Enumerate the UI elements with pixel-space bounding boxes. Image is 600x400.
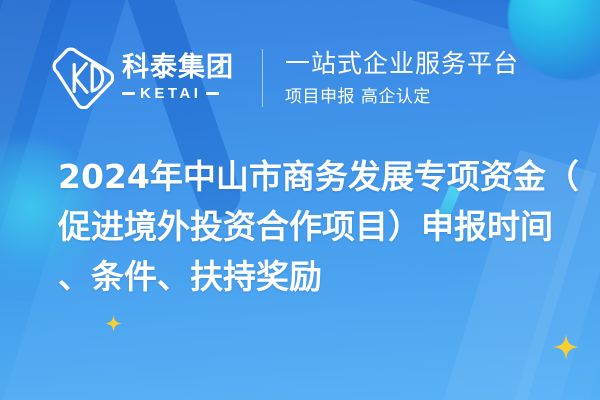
title-line-3: 、条件、扶持奖励 [58, 252, 578, 302]
brand-logo[interactable]: 科泰集团 KETAI [52, 47, 234, 109]
header-divider [262, 49, 263, 107]
tagline-primary: 一站式企业服务平台 [285, 50, 519, 78]
promo-banner: 科泰集团 KETAI 一站式企业服务平台 项目申报 高企认定 2024年中山市商… [0, 0, 600, 400]
star-large-icon [553, 334, 579, 360]
dash-right-icon [206, 92, 219, 95]
brand-name-cn: 科泰集团 [122, 52, 234, 83]
brand-name-en: KETAI [140, 85, 201, 102]
brand-logo-text: 科泰集团 KETAI [122, 54, 234, 101]
banner-header: 科泰集团 KETAI 一站式企业服务平台 项目申报 高企认定 [0, 34, 600, 122]
dash-left-icon [122, 92, 135, 95]
title-line-2: 促进境外投资合作项目）申报时间 [58, 202, 578, 252]
ketai-diamond-monogram-icon [52, 47, 114, 109]
banner-title: 2024年中山市商务发展专项资金（ 促进境外投资合作项目）申报时间 、条件、扶持… [58, 152, 578, 302]
brand-name-en-row: KETAI [122, 85, 234, 102]
tagline-secondary: 项目申报 高企认定 [285, 82, 519, 107]
star-small-icon [105, 315, 122, 332]
header-tagline: 一站式企业服务平台 项目申报 高企认定 [285, 50, 519, 107]
title-line-1: 2024年中山市商务发展专项资金（ [58, 152, 578, 202]
